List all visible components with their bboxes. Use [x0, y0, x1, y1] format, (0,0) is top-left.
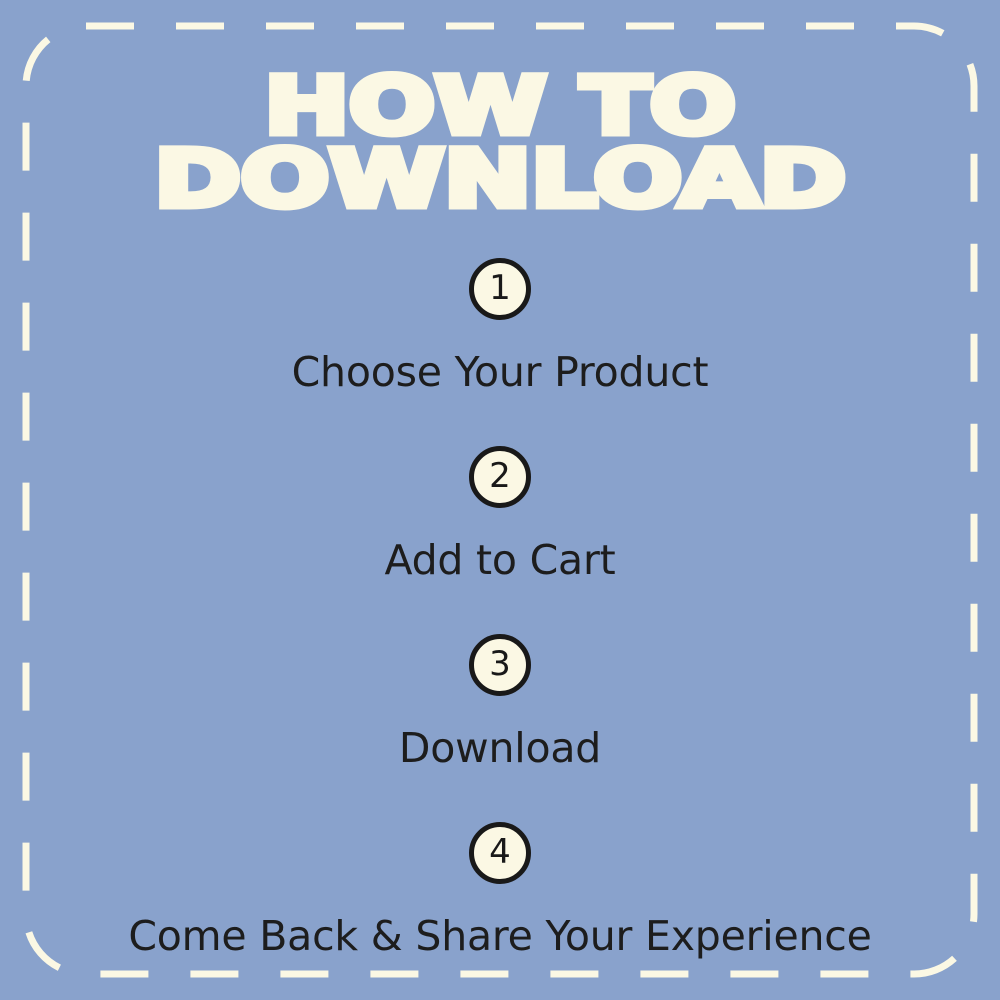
step-label-4: Come Back & Share Your Experience — [0, 916, 1000, 957]
list-item: 1 Choose Your Product — [0, 258, 1000, 393]
title-line-how-to: HOW TO — [0, 74, 1000, 141]
step-badge-1: 1 — [469, 258, 531, 320]
spacer — [0, 393, 1000, 446]
how-to-download-poster: HOW TO DOWNLOAD 1 Choose Your Product 2 … — [0, 0, 1000, 1000]
spacer — [0, 581, 1000, 634]
spacer — [0, 769, 1000, 822]
step-label-2: Add to Cart — [0, 540, 1000, 581]
list-item: 4 Come Back & Share Your Experience — [0, 822, 1000, 957]
step-label-1: Choose Your Product — [0, 352, 1000, 393]
page-title: HOW TO DOWNLOAD — [0, 74, 1000, 214]
step-number-1: 1 — [489, 271, 511, 305]
step-number-4: 4 — [489, 835, 511, 869]
step-number-2: 2 — [489, 459, 511, 493]
list-item: 3 Download — [0, 634, 1000, 769]
list-item: 2 Add to Cart — [0, 446, 1000, 581]
step-badge-2: 2 — [469, 446, 531, 508]
step-label-3: Download — [0, 728, 1000, 769]
step-badge-3: 3 — [469, 634, 531, 696]
title-line-download: DOWNLOAD — [0, 147, 1000, 214]
steps-list: 1 Choose Your Product 2 Add to Cart 3 Do… — [0, 258, 1000, 957]
step-badge-4: 4 — [469, 822, 531, 884]
step-number-3: 3 — [489, 647, 511, 681]
